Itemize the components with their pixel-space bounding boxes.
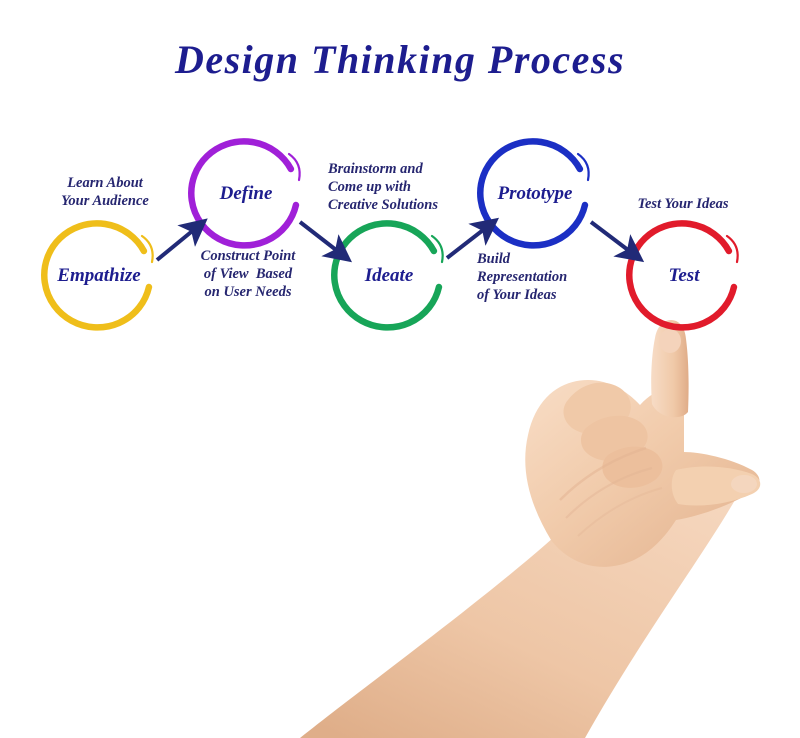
define-ring-arc <box>185 135 304 253</box>
diagram-canvas: Design Thinking Process <box>0 0 800 738</box>
stage-ring-define[interactable] <box>185 135 304 253</box>
stage-ring-empathize[interactable] <box>38 217 157 335</box>
arrow-prototype-to-test <box>591 222 632 253</box>
process-rings-layer <box>0 0 800 738</box>
ideate-ring-arc <box>328 217 447 335</box>
arrow-define-to-ideate <box>300 222 340 253</box>
empathize-ring-arc <box>38 217 157 335</box>
prototype-ring-arc <box>474 135 593 253</box>
stage-ring-ideate[interactable] <box>328 217 447 335</box>
stage-ring-test[interactable] <box>623 217 742 335</box>
arrow-empathize-to-define <box>157 228 196 260</box>
arrow-ideate-to-prototype <box>447 227 487 258</box>
stage-ring-prototype[interactable] <box>474 135 593 253</box>
test-ring-arc <box>623 217 742 335</box>
